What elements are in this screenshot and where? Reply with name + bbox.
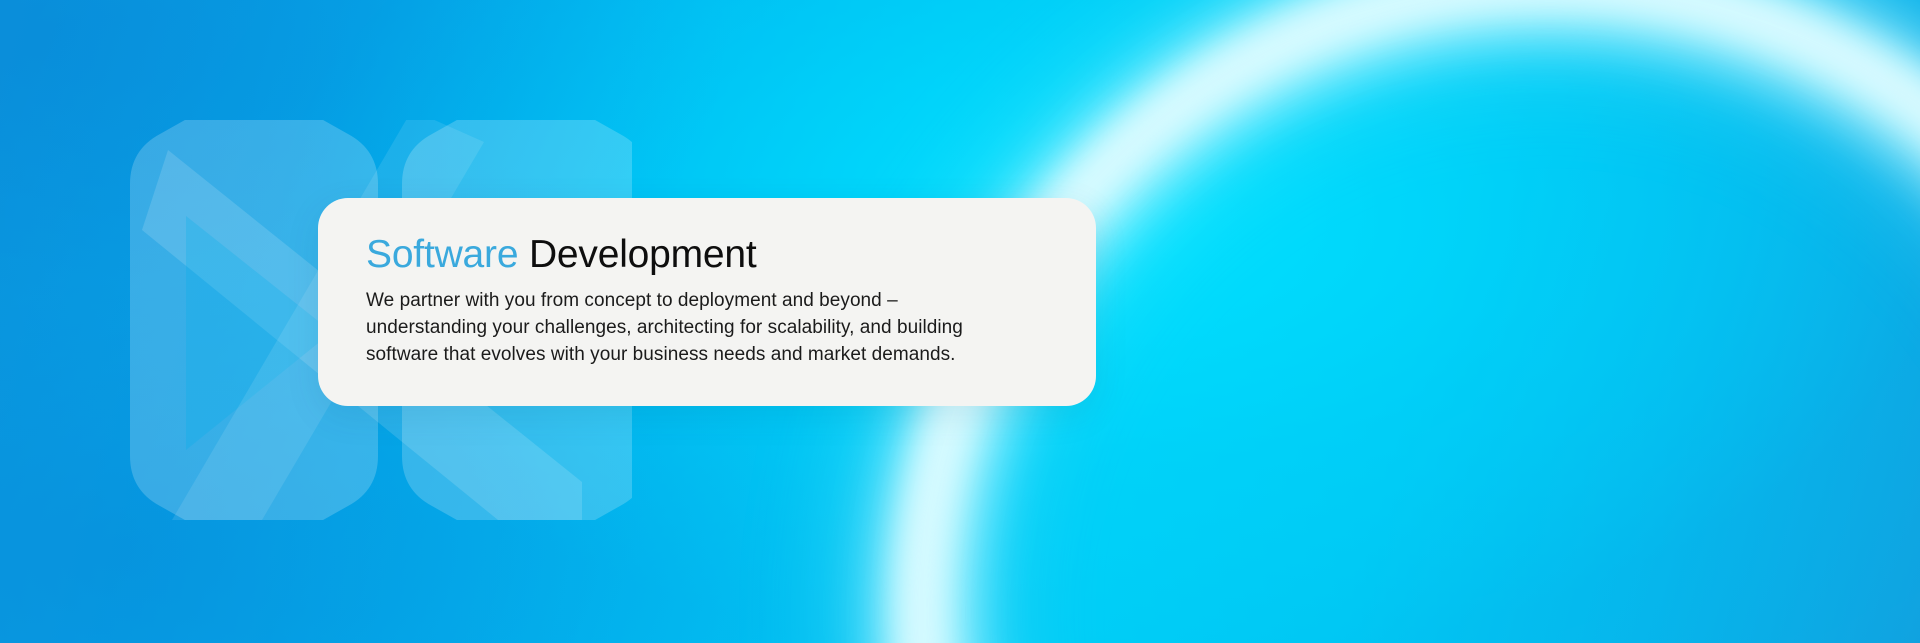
card-title-accent: Software <box>366 233 518 276</box>
service-description-card: Software Development We partner with you… <box>318 198 1096 406</box>
hero-banner: Software Development We partner with you… <box>0 0 1920 643</box>
card-title-main: Development <box>529 233 757 276</box>
card-body-text: We partner with you from concept to depl… <box>366 288 966 369</box>
card-title: Software Development <box>366 234 1052 276</box>
